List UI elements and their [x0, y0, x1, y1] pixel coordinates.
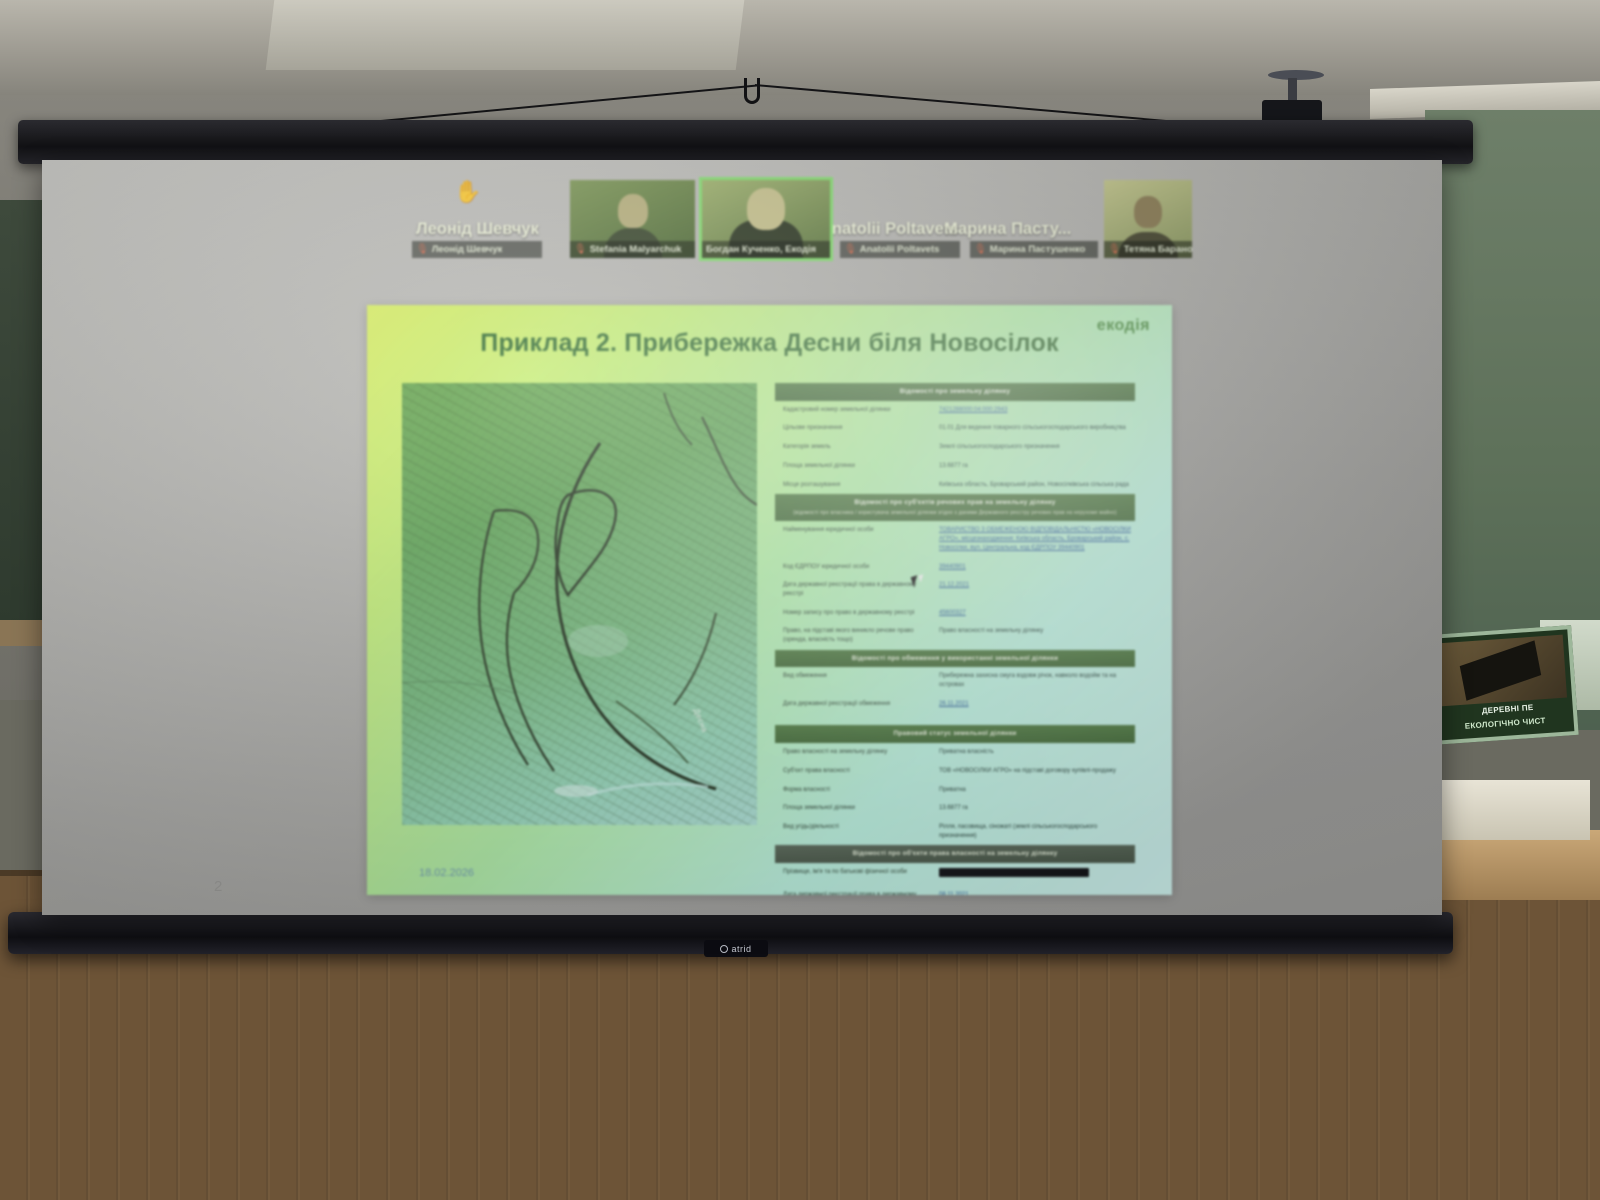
- slide-title: Приклад 2. Прибережка Десни біля Новосіл…: [367, 329, 1172, 358]
- slide-date: 18.02.2026: [419, 867, 474, 879]
- map-parcel-outlines: [402, 383, 757, 825]
- land-parcel-document: Відомості про земельну ділянку Кадастров…: [775, 383, 1135, 883]
- tile-name-label: Тетяна Баранова: [1124, 244, 1192, 255]
- doc-row-label: Дата державної реєстрації обмеження: [783, 700, 933, 709]
- doc-row: Прізвище, ім'я та по батькові фізичної о…: [775, 863, 1135, 886]
- doc-section-heading: Відомості про суб'єктів речових прав на …: [775, 494, 1135, 521]
- doc-spacer: [775, 713, 1135, 725]
- cable-hook-icon: [744, 78, 760, 104]
- doc-row-value: Прибережна захисна смуга вздовж річок, н…: [939, 672, 1131, 689]
- doc-row-value: 13.6877 га: [939, 804, 1131, 813]
- shared-slide: Приклад 2. Прибережка Десни біля Новосіл…: [367, 305, 1172, 895]
- doc-row: Право власності на земельну ділянку Прив…: [775, 743, 1135, 762]
- doc-row-value: ТОВ «НОВОСІЛКИ АГРО» на підставі договор…: [939, 767, 1131, 776]
- doc-row-value: 13.6877 га: [939, 462, 1131, 471]
- redaction-bar: [939, 868, 1089, 877]
- doc-row: Цільове призначення 01.01 Для ведення то…: [775, 419, 1135, 438]
- satellite-map-image: Десна: [402, 383, 757, 825]
- room-scene: ДЕРЕВНІ ПЕ ЕКОЛОГІЧНО ЧИСТ atrid ✋ Леоні…: [0, 0, 1600, 1200]
- doc-row: Дата державної реєстрації права в держав…: [775, 576, 1135, 603]
- doc-row-value[interactable]: 26.11.2021: [939, 700, 1131, 709]
- doc-row-value[interactable]: 45600327: [939, 609, 1131, 618]
- video-tile-1[interactable]: 🎙 Леонід Шевчук: [412, 180, 542, 258]
- tile-name-label: Stefania Malyarchuk: [590, 244, 682, 255]
- doc-row-label: Код ЄДРПОУ юридичної особи: [783, 563, 933, 572]
- doc-row-label: Категорія земель: [783, 443, 933, 452]
- doc-row-value-redacted: [939, 868, 1131, 881]
- tile-name-label: Леонід Шевчук: [432, 244, 503, 255]
- muted-mic-icon: 🎙: [1108, 245, 1121, 255]
- poster-image: [1436, 635, 1567, 707]
- doc-row-value[interactable]: 39440901: [939, 563, 1131, 572]
- doc-row: Категорія земель Землі сільськогосподарс…: [775, 438, 1135, 457]
- doc-row: Право, на підставі якого виникло речове …: [775, 622, 1135, 649]
- doc-section-heading: Відомості про земельну ділянку: [775, 383, 1135, 401]
- doc-row-label: Суб'єкт права власності: [783, 767, 933, 776]
- doc-row: Площа земельної ділянки 13.6877 га: [775, 457, 1135, 476]
- video-tile-6[interactable]: 🎙 Тетяна Баранова: [1104, 180, 1192, 258]
- doc-row-label: Дата державної реєстрації права в держав…: [783, 891, 933, 895]
- screen-top-housing: [18, 120, 1473, 164]
- doc-section-heading: Відомості про обмеження у використанні з…: [775, 650, 1135, 668]
- avatar-head: [747, 188, 785, 230]
- doc-row: Дата державної реєстрації права в держав…: [775, 886, 1135, 895]
- video-participant-strip: ✋ Леонід Шевчук Anatolii Poltavets Марин…: [392, 180, 1192, 275]
- avatar-head: [618, 194, 648, 228]
- doc-row-label: Вид обмеження: [783, 672, 933, 681]
- doc-row-value[interactable]: 7421288000:04:000:2943: [939, 406, 1131, 415]
- doc-row: Кадастровий номер земельної ділянки 7421…: [775, 401, 1135, 420]
- doc-row-value[interactable]: ТОВАРИСТВО З ОБМЕЖЕНОЮ ВІДПОВІДАЛЬНІСТЮ …: [939, 526, 1131, 552]
- video-tile-5[interactable]: 🎙 Марина Пастушенко: [970, 180, 1098, 258]
- doc-row-value: Київська область, Броварський район, Нов…: [939, 481, 1131, 490]
- doc-row-label: Кадастровий номер земельної ділянки: [783, 406, 933, 415]
- tile-nameplate: 🎙 Леонід Шевчук: [412, 241, 542, 258]
- doc-row-value[interactable]: 21.12.2021: [939, 581, 1131, 590]
- tile-nameplate: Богдан Кученко, Екодія: [702, 241, 830, 258]
- doc-row-value: 01.01 Для ведення товарного сільськогосп…: [939, 424, 1131, 433]
- screen-brand-badge: atrid: [704, 940, 768, 957]
- tile-name-label: Марина Пастушенко: [990, 244, 1086, 255]
- tile-nameplate: 🎙 Марина Пастушенко: [970, 241, 1098, 258]
- doc-row-label: Право, на підставі якого виникло речове …: [783, 627, 933, 644]
- brand-logo-icon: [720, 945, 728, 953]
- muted-mic-icon: 🎙: [416, 245, 429, 255]
- doc-row-label: Номер запису про право в державному реєс…: [783, 609, 933, 618]
- doc-row: Код ЄДРПОУ юридичної особи 39440901: [775, 558, 1135, 577]
- projection-screen: ✋ Леонід Шевчук Anatolii Poltavets Марин…: [42, 160, 1442, 915]
- ceiling: [0, 0, 1600, 95]
- doc-row-value: Приватна: [939, 786, 1131, 795]
- doc-row-value[interactable]: 08.11.2021: [939, 891, 1131, 895]
- video-tile-4[interactable]: 🎙 Anatolii Poltavets: [840, 180, 960, 258]
- doc-row-label: Місце розташування: [783, 481, 933, 490]
- doc-row-label: Право власності на земельну ділянку: [783, 748, 933, 757]
- tile-name-label: Anatolii Poltavets: [860, 244, 940, 255]
- doc-row: Дата державної реєстрації обмеження 26.1…: [775, 695, 1135, 714]
- tile-nameplate: 🎙 Anatolii Poltavets: [840, 241, 960, 258]
- doc-row-label: Прізвище, ім'я та по батькові фізичної о…: [783, 868, 933, 877]
- doc-row-label: Форма власності: [783, 786, 933, 795]
- doc-row: Найменування юридичної особи ТОВАРИСТВО …: [775, 521, 1135, 557]
- video-tile-2[interactable]: 🎙 Stefania Malyarchuk: [570, 180, 695, 258]
- tile-nameplate: 🎙 Тетяна Баранова: [1104, 241, 1192, 258]
- doc-row-value: Право власності на земельну ділянку: [939, 627, 1131, 636]
- counter-box: [1440, 780, 1590, 840]
- doc-section-subtitle: (відомості про власника / користувача зе…: [781, 510, 1129, 518]
- doc-row: Площа земельної ділянки 13.6877 га: [775, 799, 1135, 818]
- muted-mic-icon: 🎙: [844, 245, 857, 255]
- ekodiya-logo: екодія: [1097, 317, 1150, 335]
- doc-row-label: Дата державної реєстрації права в держав…: [783, 581, 933, 598]
- doc-row-value: Приватна власність: [939, 748, 1131, 757]
- screen-page-number: 2: [214, 878, 222, 895]
- screen-brand-label: atrid: [731, 944, 751, 954]
- poster-line-1: ДЕРЕВНІ ПЕ: [1481, 703, 1533, 716]
- avatar-head: [1134, 196, 1162, 228]
- doc-row-label: Площа земельної ділянки: [783, 462, 933, 471]
- doc-section-heading: Відомості про об'єкти права власності на…: [775, 845, 1135, 863]
- doc-row: Місце розташування Київська область, Бро…: [775, 476, 1135, 495]
- doc-row-label: Цільове призначення: [783, 424, 933, 433]
- doc-row: Номер запису про право в державному реєс…: [775, 604, 1135, 623]
- video-tile-3-active-speaker[interactable]: Богдан Кученко, Екодія: [702, 180, 830, 258]
- doc-row-label: Найменування юридичної особи: [783, 526, 933, 535]
- doc-row: Суб'єкт права власності ТОВ «НОВОСІЛКИ А…: [775, 762, 1135, 781]
- doc-row-value: Рілля, пасовища, сіножаті (землі сільськ…: [939, 823, 1131, 840]
- muted-mic-icon: 🎙: [574, 245, 587, 255]
- ceiling-beam: [266, 0, 745, 70]
- wall-poster: ДЕРЕВНІ ПЕ ЕКОЛОГІЧНО ЧИСТ: [1426, 625, 1578, 745]
- tile-name-label: Богдан Кученко, Екодія: [706, 244, 816, 255]
- doc-row: Вид угідь/діяльності Рілля, пасовища, сі…: [775, 818, 1135, 845]
- doc-row: Форма власності Приватна: [775, 781, 1135, 800]
- doc-row-value: Землі сільськогосподарського призначення: [939, 443, 1131, 452]
- doc-section-title: Відомості про суб'єктів речових прав на …: [854, 499, 1055, 506]
- poster-line-2: ЕКОЛОГІЧНО ЧИСТ: [1464, 716, 1545, 731]
- poster-shape: [1460, 640, 1541, 701]
- muted-mic-icon: 🎙: [974, 245, 987, 255]
- doc-section-heading: Правовий статус земельної ділянки: [775, 725, 1135, 743]
- doc-row: Вид обмеження Прибережна захисна смуга в…: [775, 667, 1135, 694]
- doc-row-label: Площа земельної ділянки: [783, 804, 933, 813]
- tile-nameplate: 🎙 Stefania Malyarchuk: [570, 241, 695, 258]
- doc-row-label: Вид угідь/діяльності: [783, 823, 933, 832]
